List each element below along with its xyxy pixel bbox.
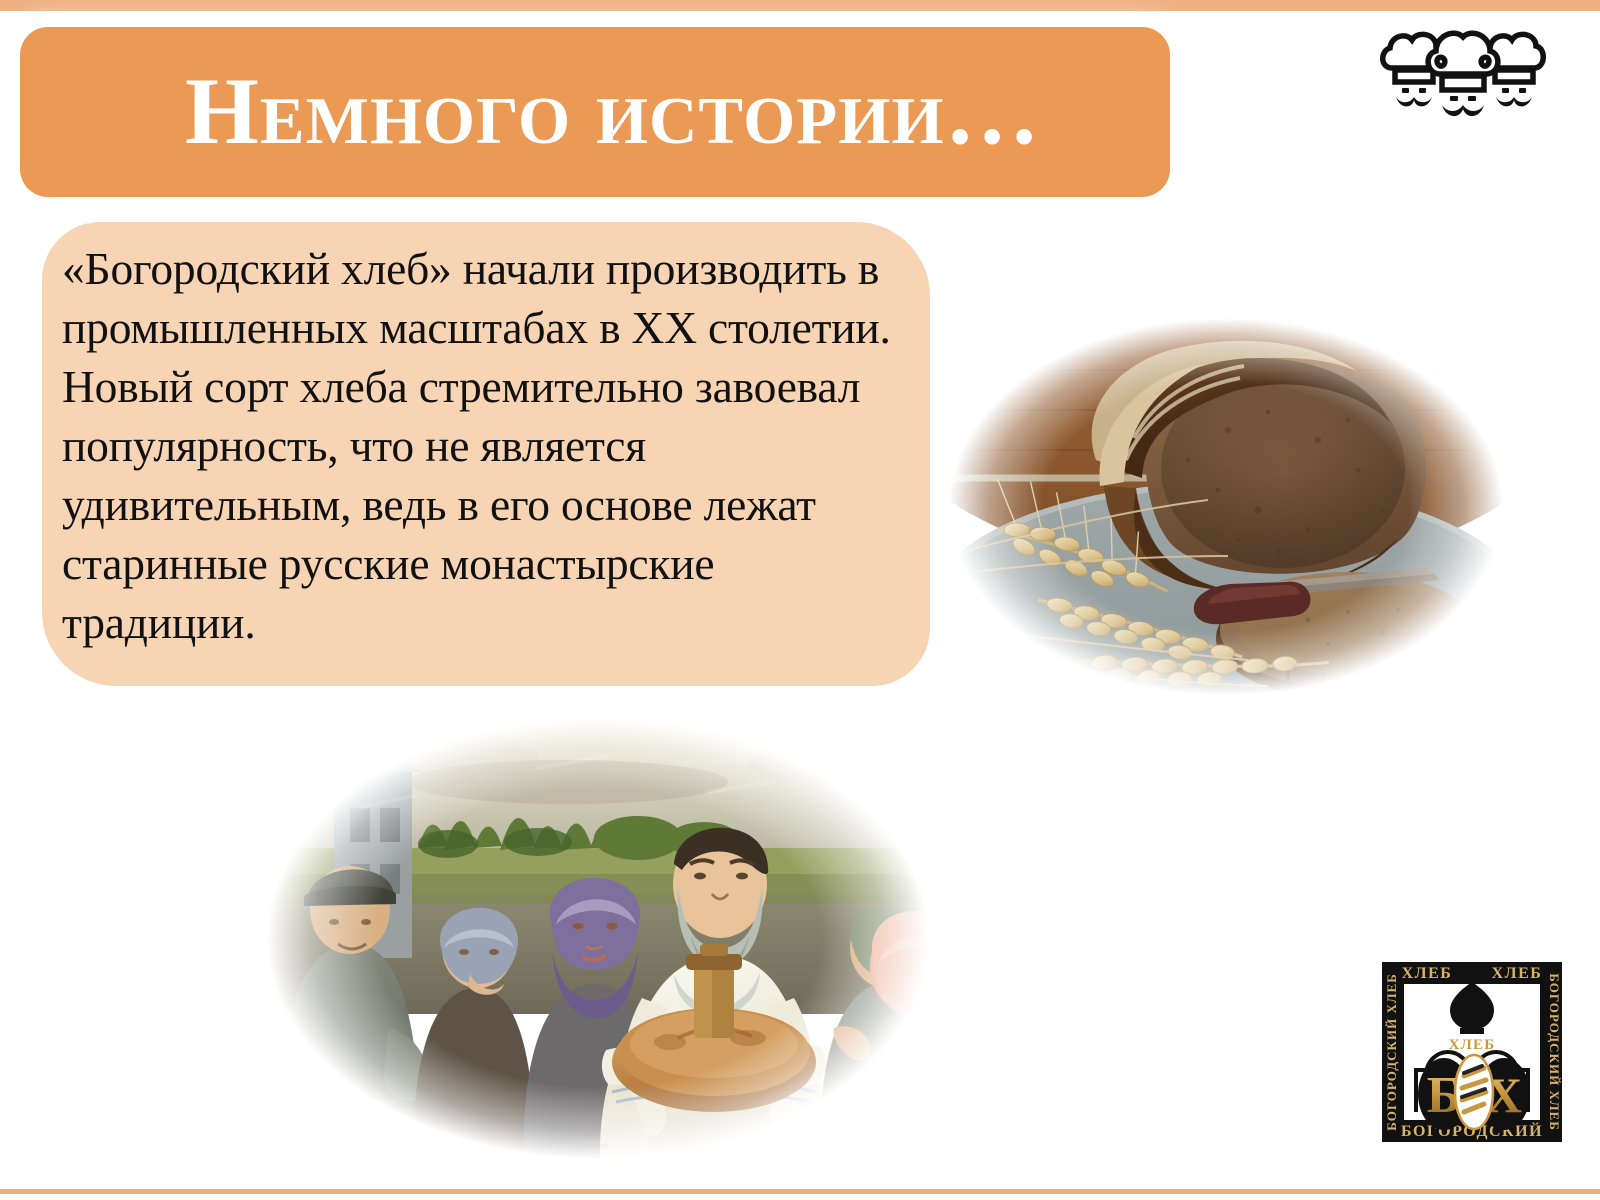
logo-right-text: БОГОРОДСКИЙ ХЛЕБ [1547, 973, 1562, 1131]
bread-and-salt-painting [238, 698, 958, 1178]
body-text-card: «Богородский хлеб» начали производить в … [42, 222, 930, 686]
bogorodsky-hleb-logo: ХЛЕБ ХЛЕБ БОГОРОДСКИЙ БОГОРОДСКИЙ ХЛЕБ Б… [1372, 952, 1572, 1152]
logo-top-left-text: ХЛЕБ [1402, 965, 1453, 982]
title-banner: Немного истории… [20, 27, 1170, 197]
top-accent-strip [0, 0, 1600, 11]
slide-canvas: Немного истории… [0, 0, 1600, 1200]
body-paragraph: «Богородский хлеб» начали производить в … [62, 239, 907, 652]
rye-bread-photo [928, 300, 1524, 714]
chef-hats-icon [1378, 26, 1548, 121]
logo-monogram: БХ [1372, 952, 1393, 956]
page-title: Немного истории… [185, 55, 1040, 167]
bottom-accent-strip [0, 1189, 1600, 1194]
logo-top-right-text: ХЛЕБ [1492, 965, 1543, 982]
logo-left-text: БОГОРОДСКИЙ ХЛЕБ [1384, 973, 1399, 1131]
logo-dome-text: ХЛЕБ [1449, 1037, 1496, 1053]
